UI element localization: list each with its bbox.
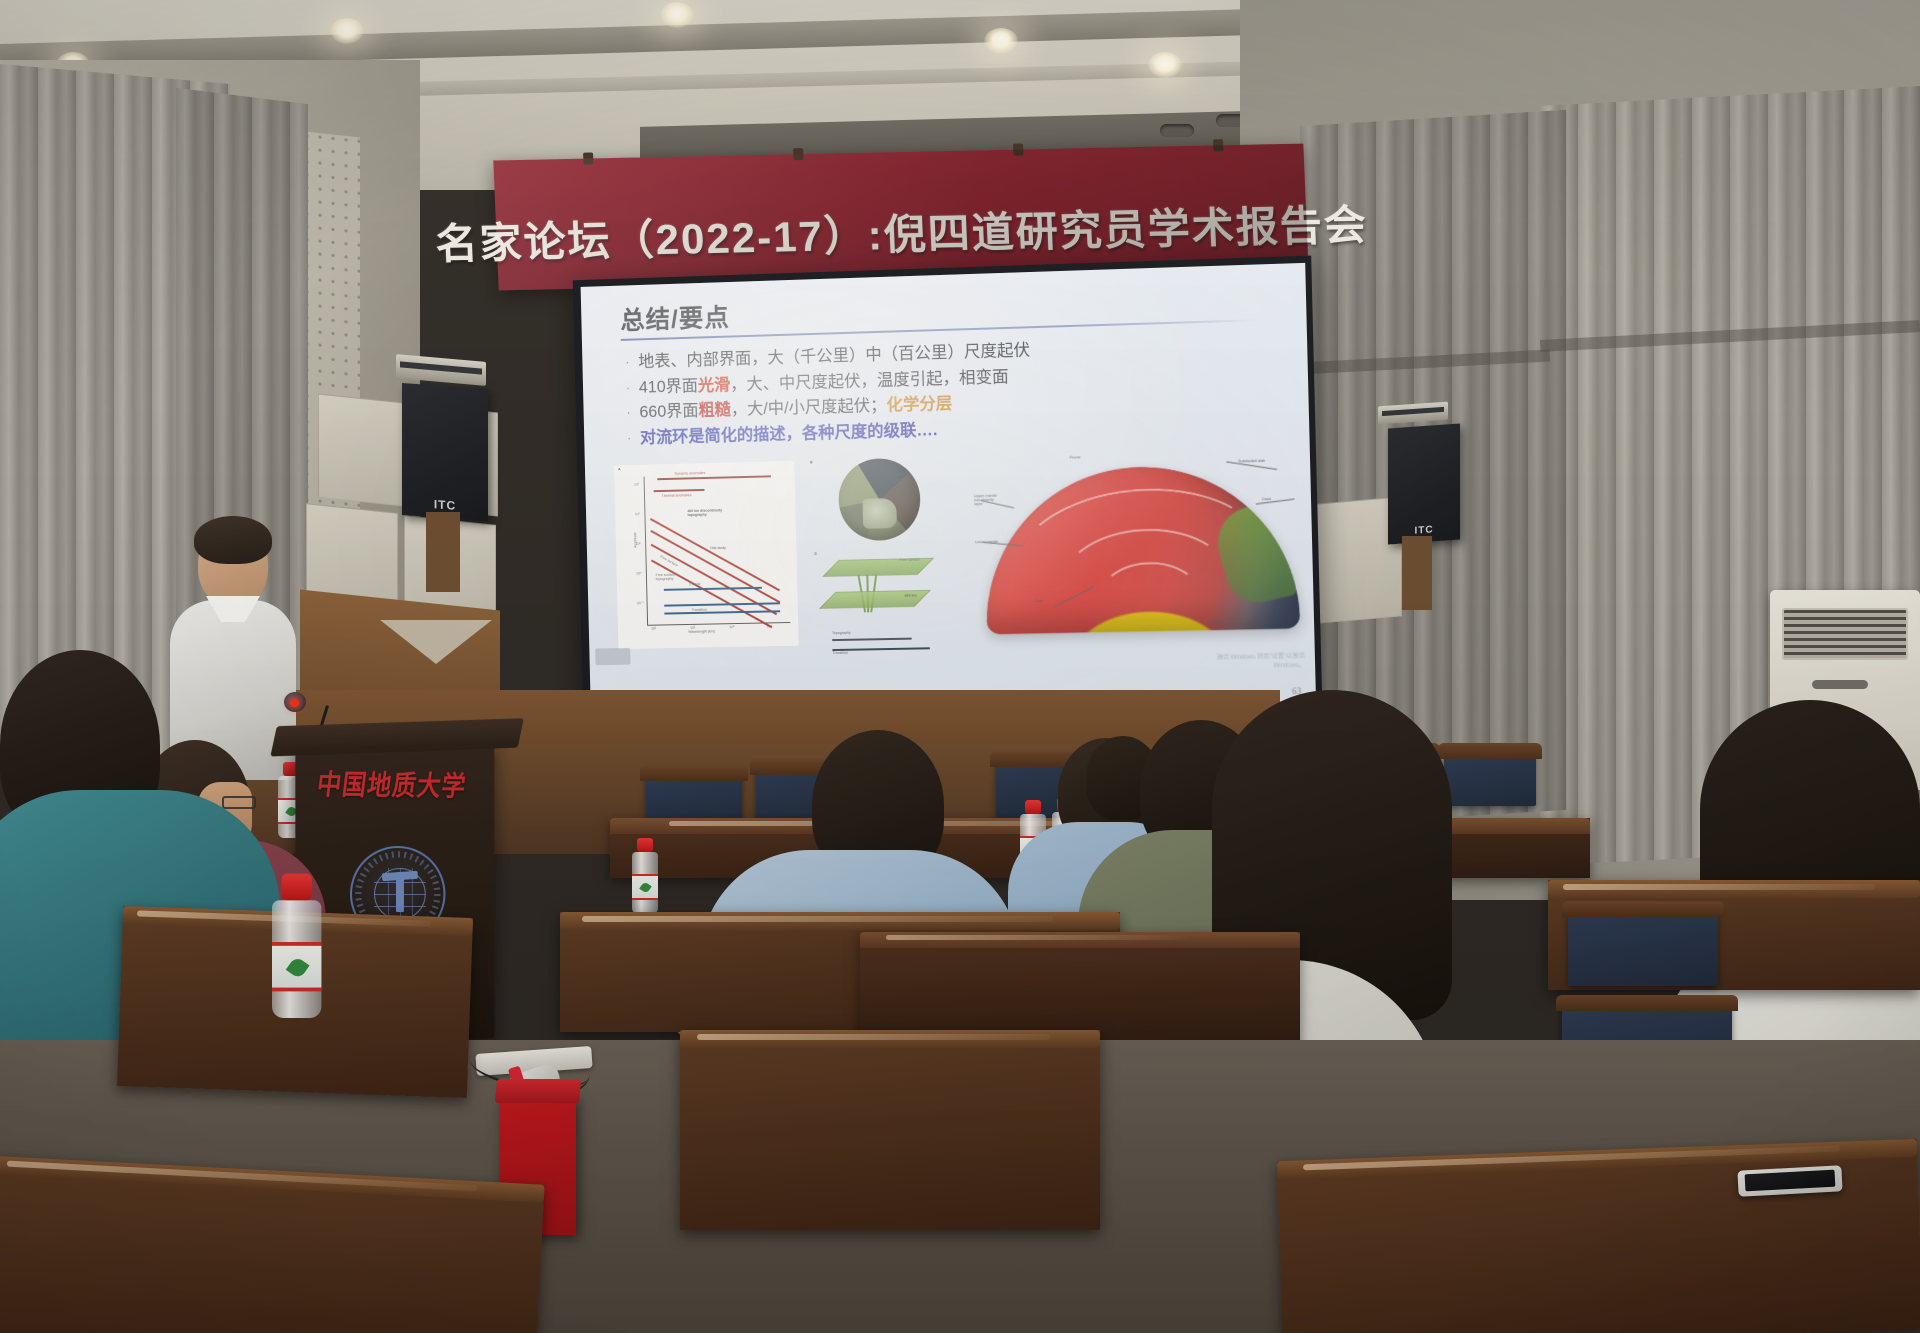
figure-c-mantle-wedge: Plume Upper mantlelow-velocitylayer Lowe… (973, 440, 1303, 659)
speaker-brand-label: ITC (434, 497, 456, 513)
presentation-slide: 总结/要点 · 地表、内部界面，大（千公里）中（百公里）尺度起伏 · 410界面… (581, 263, 1317, 717)
figure-b-earth-layers: B C Free surface 660 km Topography Trans… (810, 453, 954, 656)
ceiling-light (984, 28, 1018, 54)
desk-foreground-center (680, 1030, 1100, 1230)
bullet-text: ，大、中尺度起伏，温度引起，相变面 (730, 368, 1009, 394)
audio-speaker-right: ITC (1388, 423, 1460, 544)
chair[interactable] (1444, 748, 1536, 806)
speaker-mount-right (1402, 536, 1432, 610)
bullet-marker: · (626, 401, 631, 425)
windows-activation-watermark: 激活 Windows 转到"设置"以激活 Windows。 (1217, 653, 1305, 673)
bullet-marker: · (627, 426, 632, 450)
phone-screen (1745, 1170, 1836, 1192)
ac-grille (1782, 608, 1908, 660)
audio-speaker-left: ITC (402, 383, 488, 521)
bullet-highlight-chemical-layering: 化学分层 (886, 395, 952, 415)
speaker-mount-left (426, 512, 460, 592)
wall-tile (318, 393, 404, 506)
smartphone[interactable] (1737, 1165, 1842, 1196)
gift-bag-opening (495, 1079, 581, 1103)
bullet-text: ，大/中/小尺度起伏； (731, 397, 887, 419)
wall-chevron-ornament (380, 620, 492, 664)
presenter-hair (194, 516, 272, 564)
water-bottle (632, 838, 658, 914)
ceiling-light (1148, 52, 1182, 78)
slide-bullet-list: · 地表、内部界面，大（千公里）中（百公里）尺度起伏 · 410界面光滑，大、中… (625, 330, 1287, 451)
bullet-text: 410界面 (639, 377, 699, 397)
slide-figures: A Amplitude Wavelength (km) 10³ 10² 10¹ … (606, 443, 1311, 676)
chair[interactable] (1568, 906, 1718, 986)
lecture-hall-photo: ITC ITC 名家论坛（2022-17）:倪四道研究员学术报告会 总结/要点 … (0, 0, 1920, 1333)
slide-title: 总结/要点 (620, 298, 730, 337)
earth-core (862, 498, 896, 529)
microphone-led-icon (290, 699, 299, 707)
ac-badge (1812, 680, 1868, 689)
bullet-marker: · (625, 351, 630, 375)
water-bottle (272, 874, 321, 1018)
slide-corner-logo (595, 648, 630, 665)
ceiling-light (660, 2, 694, 28)
projection-screen: 总结/要点 · 地表、内部界面，大（千公里）中（百公里）尺度起伏 · 410界面… (573, 256, 1323, 726)
eyeglasses-icon (222, 796, 256, 809)
desk-foreground-bottom-left (0, 1155, 545, 1333)
bullet-highlight-rough: 粗糙 (698, 401, 731, 420)
bullet-text: 660界面 (639, 402, 699, 421)
bullet-highlight-smooth: 光滑 (698, 376, 731, 395)
bullet-marker: · (626, 376, 631, 400)
figure-a-scatter: A Amplitude Wavelength (km) 10³ 10² 10¹ … (614, 461, 799, 649)
podium-university-calligraphy: 中国地质大学 (314, 762, 478, 809)
ceiling-light (330, 18, 364, 44)
speaker-brand-label: ITC (1414, 524, 1433, 536)
mantle-wedge-body (986, 463, 1301, 634)
